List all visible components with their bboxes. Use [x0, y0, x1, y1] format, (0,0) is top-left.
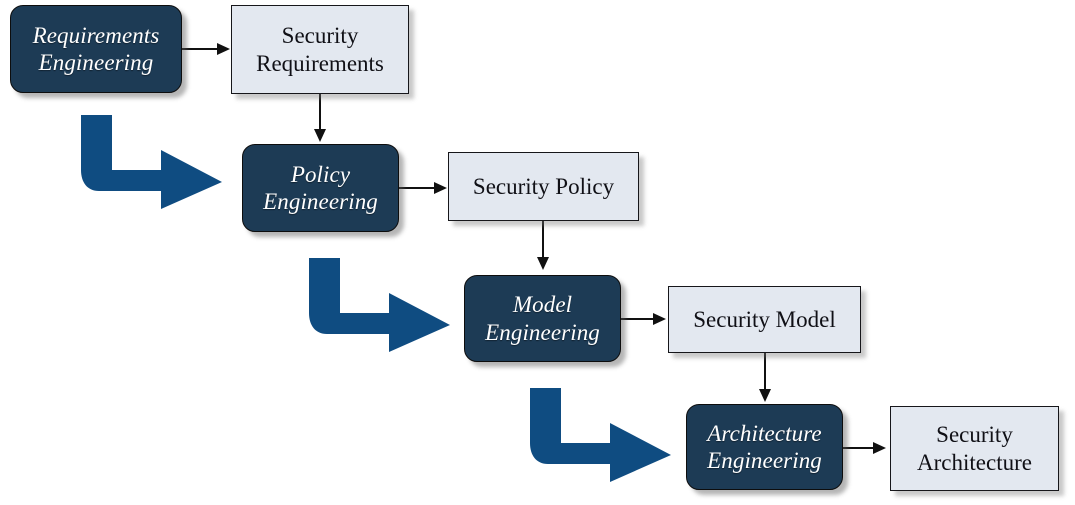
artifact-label-line1: Security [282, 23, 359, 48]
process-node-model-engineering[interactable]: Model Engineering [464, 275, 621, 362]
artifact-label: Security Requirements [256, 22, 384, 77]
arrowhead-down-icon [759, 389, 771, 402]
artifact-node-security-model[interactable]: Security Model [668, 286, 861, 353]
process-label-line2: Engineering [263, 189, 378, 214]
elbow-arrow-model-to-architecture [524, 385, 674, 485]
process-label-line2: Engineering [485, 320, 600, 345]
process-label: Model Engineering [485, 291, 600, 345]
artifact-label-line1: Security [936, 422, 1013, 447]
process-label-line1: Policy [291, 162, 350, 187]
process-node-requirements-engineering[interactable]: Requirements Engineering [10, 5, 182, 93]
artifact-label-line2: Requirements [256, 51, 384, 76]
connector-model-eng-to-sec-model [621, 318, 655, 320]
process-label: Architecture Engineering [707, 420, 822, 474]
artifact-node-security-requirements[interactable]: Security Requirements [231, 5, 409, 94]
connector-arch-eng-to-sec-arch [843, 447, 875, 449]
artifact-label: Security Policy [473, 173, 614, 201]
connector-policy-eng-to-sec-policy [399, 187, 436, 189]
artifact-label-line2: Architecture [917, 450, 1032, 475]
arrowhead-right-icon [653, 313, 666, 325]
connector-sec-req-to-policy-eng [319, 94, 321, 131]
artifact-label: Security Architecture [917, 421, 1032, 476]
artifact-node-security-architecture[interactable]: Security Architecture [890, 406, 1059, 491]
process-node-architecture-engineering[interactable]: Architecture Engineering [686, 404, 843, 490]
connector-sec-policy-to-model-eng [542, 221, 544, 259]
process-label-line2: Engineering [707, 448, 822, 473]
diagram-canvas: Requirements Engineering Security Requir… [0, 0, 1075, 505]
connector-req-eng-to-sec-req [182, 48, 219, 50]
elbow-arrow-requirements-to-policy [75, 112, 225, 212]
arrowhead-right-icon [217, 43, 230, 55]
process-label: Policy Engineering [263, 161, 378, 215]
process-label-line1: Architecture [707, 421, 821, 446]
process-label-line2: Engineering [39, 50, 154, 75]
process-label: Requirements Engineering [33, 22, 160, 76]
arrowhead-down-icon [537, 257, 549, 270]
elbow-arrow-policy-to-model [303, 255, 453, 355]
arrowhead-right-icon [873, 442, 886, 454]
process-node-policy-engineering[interactable]: Policy Engineering [242, 144, 399, 232]
artifact-node-security-policy[interactable]: Security Policy [448, 152, 639, 221]
process-label-line1: Requirements [33, 23, 160, 48]
connector-sec-model-to-arch-eng [764, 353, 766, 391]
arrowhead-down-icon [314, 129, 326, 142]
arrowhead-right-icon [434, 182, 447, 194]
artifact-label: Security Model [693, 306, 835, 334]
process-label-line1: Model [513, 292, 572, 317]
